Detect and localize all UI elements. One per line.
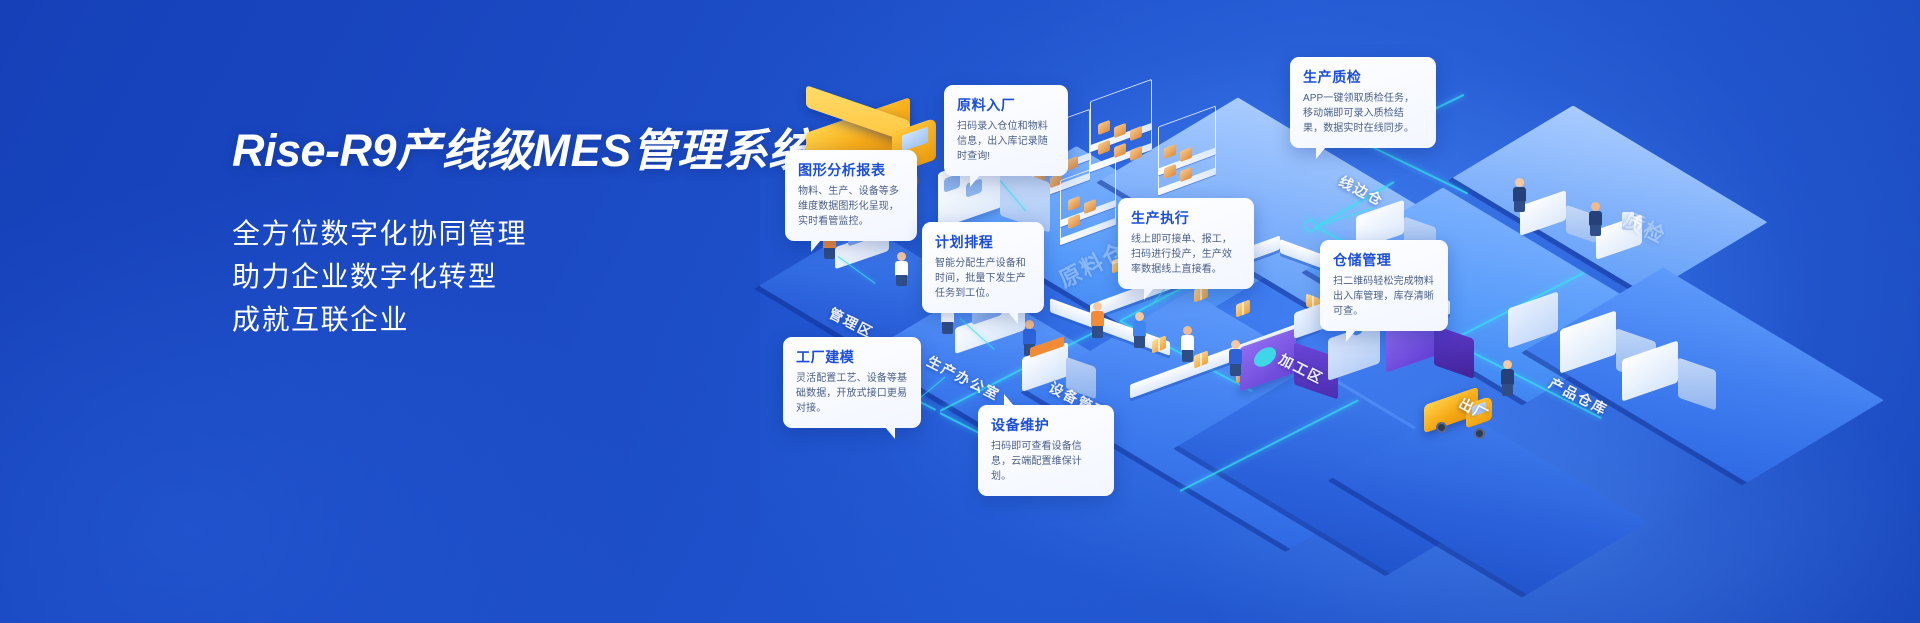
callout-card-production-execution[interactable]: 生产执行 线上即可接单、报工，扫码进行投产，生产效率数据线上直接看。 <box>1118 198 1254 289</box>
callout-card-production-qc[interactable]: 生产质检 APP一键领取质检任务，移动端即可录入质检结果，数据实时在线同步。 <box>1290 57 1436 148</box>
card-tail <box>1346 330 1356 342</box>
card-title: 生产质检 <box>1303 68 1423 86</box>
worker-torso <box>1501 369 1514 385</box>
worker-legs <box>942 322 953 334</box>
worker-line-3 <box>1228 340 1244 376</box>
subtitle-line-3: 成就互联企业 <box>232 298 852 341</box>
title-product-subtitle: 产线级MES管理系统 <box>396 125 814 176</box>
card-tail <box>885 427 895 439</box>
worker-legs <box>1230 364 1241 376</box>
worker-management-2 <box>894 252 910 286</box>
worker-head <box>1231 340 1240 349</box>
worker-torso <box>1133 321 1146 337</box>
worker-line-2 <box>1180 326 1196 362</box>
card-tail <box>1004 394 1014 406</box>
card-body: 物料、生产、设备等多维度数据图形化呈现，实时看管监控。 <box>798 184 904 229</box>
card-body: 扫码录入仓位和物料信息，出入库记录随时查询! <box>957 119 1055 164</box>
card-body: 灵活配置工艺、设备等基础数据，开放式接口更易对接。 <box>796 371 908 416</box>
card-title: 工厂建模 <box>796 348 908 366</box>
worker-torso <box>895 261 908 276</box>
callout-card-planning-scheduling[interactable]: 计划排程 智能分配生产设备和时间，批量下发生产任务到工位。 <box>922 222 1044 313</box>
card-body: APP一键领取质检任务，移动端即可录入质检结果，数据实时在线同步。 <box>1303 91 1423 136</box>
forklift-wheel-rear <box>1436 422 1447 433</box>
worker-head <box>897 252 906 261</box>
card-title: 计划排程 <box>935 233 1031 251</box>
network-node-1 <box>1305 220 1316 231</box>
worker-shipping <box>1500 360 1516 396</box>
worker-legs <box>1590 225 1601 236</box>
card-title: 生产执行 <box>1131 209 1241 227</box>
card-title: 图形分析报表 <box>798 161 904 179</box>
worker-legs <box>824 248 835 259</box>
worker-torso <box>1023 329 1036 345</box>
title-product-name: Rise-R9 <box>232 125 396 176</box>
worker-legs <box>1514 201 1525 212</box>
worker-torso <box>1513 187 1526 202</box>
card-tail <box>970 175 980 187</box>
worker-legs <box>896 275 907 286</box>
qc-inspector-1 <box>1512 178 1528 212</box>
subtitle-line-1: 全方位数字化协同管理 <box>232 212 852 255</box>
hero-subtitle: 全方位数字化协同管理 助力企业数字化转型 成就互联企业 <box>232 212 852 341</box>
worker-legs <box>1182 350 1193 362</box>
worker-head <box>1503 360 1512 369</box>
worker-head <box>1183 326 1192 335</box>
worker-line-1 <box>1132 312 1148 348</box>
hero-copy: Rise-R9产线级MES管理系统 全方位数字化协同管理 助力企业数字化转型 成… <box>232 126 852 341</box>
worker-head <box>1591 202 1600 211</box>
mes-hero-banner: Rise-R9产线级MES管理系统 全方位数字化协同管理 助力企业数字化转型 成… <box>0 0 1920 623</box>
worker-torso <box>1229 349 1242 365</box>
card-title: 仓储管理 <box>1333 251 1435 269</box>
worker-head <box>1093 302 1102 311</box>
qc-inspector-2 <box>1588 202 1604 236</box>
page-title: Rise-R9产线级MES管理系统 <box>232 126 852 176</box>
worker-legs <box>1502 384 1513 396</box>
worker-head <box>1515 178 1524 187</box>
card-tail <box>1008 312 1018 324</box>
worker-torso <box>1589 211 1602 226</box>
worker-line-4 <box>1090 302 1106 338</box>
card-tail <box>1144 288 1154 300</box>
card-body: 智能分配生产设备和时间，批量下发生产任务到工位。 <box>935 256 1031 301</box>
callout-card-raw-material-intake[interactable]: 原料入厂 扫码录入仓位和物料信息，出入库记录随时查询! <box>944 85 1068 176</box>
worker-legs <box>1092 326 1103 338</box>
worker-head <box>1025 320 1034 329</box>
callout-card-equipment-maintenance[interactable]: 设备维护 扫码即可查看设备信息，云端配置维保计划。 <box>978 405 1114 496</box>
card-title: 原料入厂 <box>957 96 1055 114</box>
forklift-wheel-front <box>1474 428 1485 439</box>
worker-torso <box>1181 335 1194 351</box>
card-body: 扫码即可查看设备信息，云端配置维保计划。 <box>991 439 1101 484</box>
callout-card-warehouse-management[interactable]: 仓储管理 扫二维码轻松完成物料出入库管理，库存清晰可查。 <box>1320 240 1448 331</box>
conveyor-parcel <box>1236 299 1250 317</box>
card-title: 设备维护 <box>991 416 1101 434</box>
worker-legs <box>1134 336 1145 348</box>
card-tail <box>1316 147 1326 159</box>
callout-card-graph-report[interactable]: 图形分析报表 物料、生产、设备等多维度数据图形化呈现，实时看管监控。 <box>785 150 917 241</box>
worker-torso <box>1091 311 1104 327</box>
card-body: 扫二维码轻松完成物料出入库管理，库存清晰可查。 <box>1333 274 1435 319</box>
card-body: 线上即可接单、报工，扫码进行投产，生产效率数据线上直接看。 <box>1131 232 1241 277</box>
worker-head <box>1135 312 1144 321</box>
callout-card-factory-modeling[interactable]: 工厂建模 灵活配置工艺、设备等基础数据，开放式接口更易对接。 <box>783 337 921 428</box>
card-tail <box>811 240 821 252</box>
